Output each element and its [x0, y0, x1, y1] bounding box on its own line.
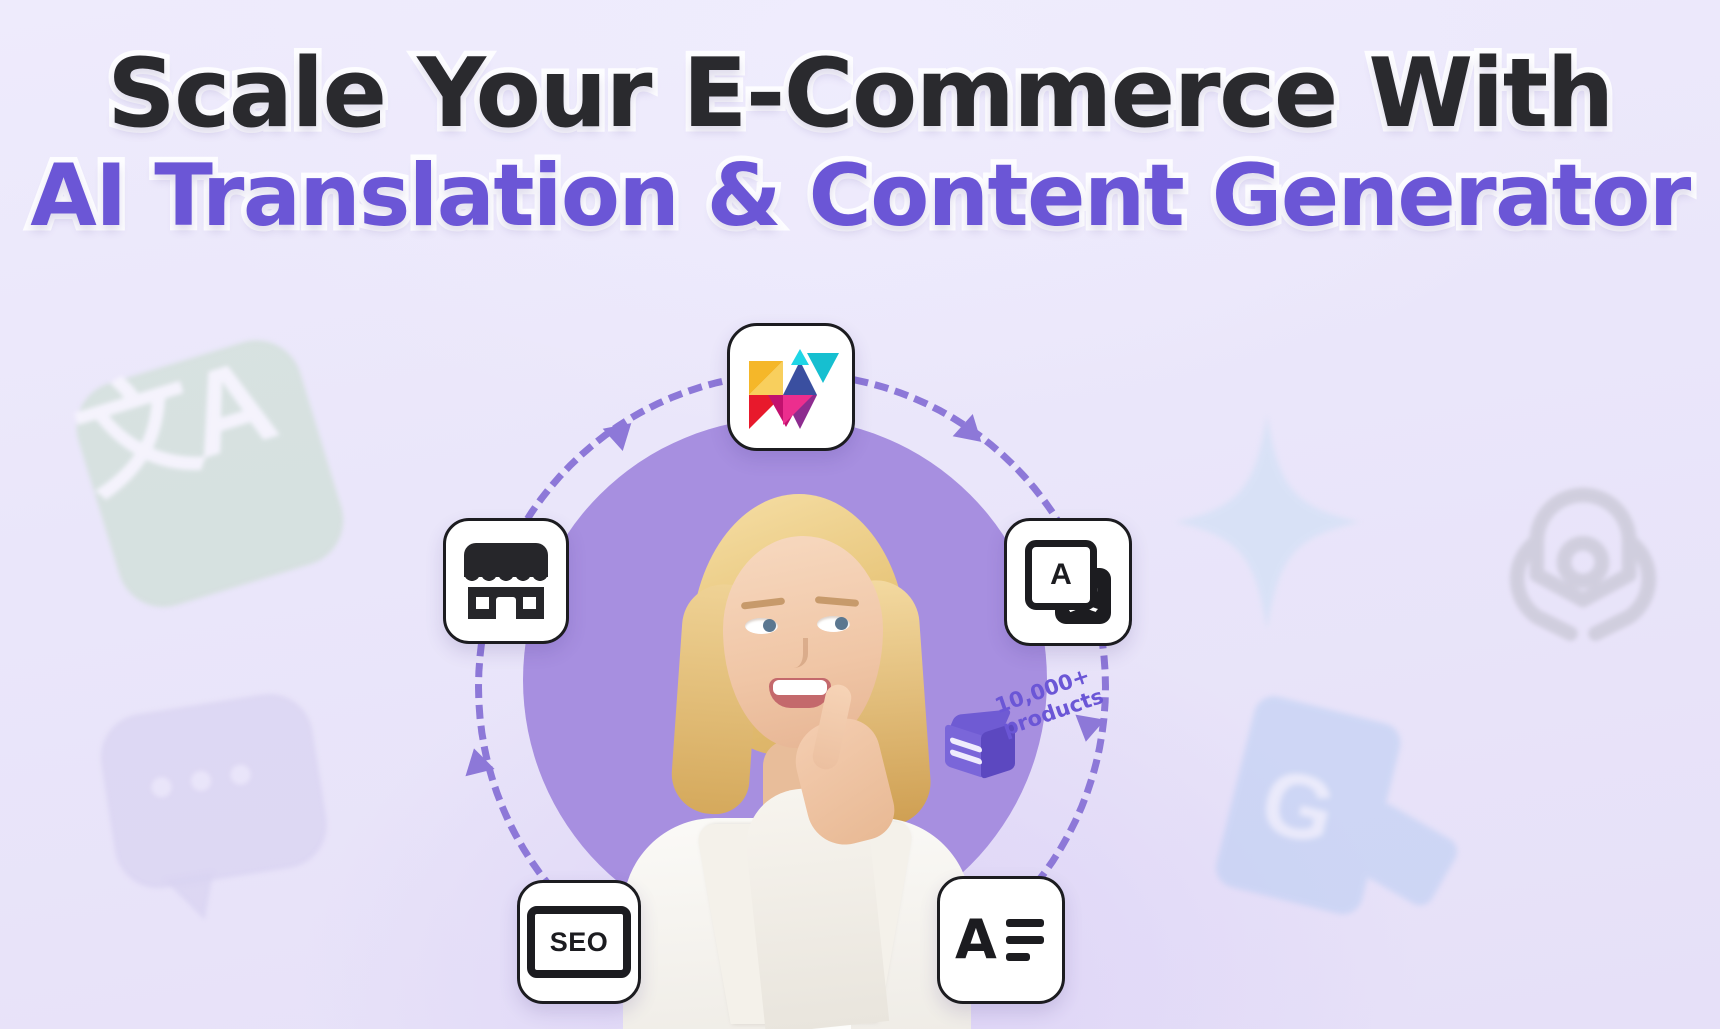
mouth	[769, 678, 831, 708]
page-title: Scale Your E-Commerce With AI Translatio…	[0, 46, 1720, 241]
pupil-right	[835, 617, 848, 630]
banner-stage: 文A G Scale Your E-Commerce With AI Tran	[0, 0, 1720, 1029]
watermark-card	[1212, 692, 1405, 918]
products-badge: 10,000+ products	[945, 670, 1175, 780]
woman-thinking-photo	[605, 488, 985, 1029]
content-generator-tile[interactable]: A	[937, 876, 1065, 1004]
watermark-glyph: 文A	[65, 318, 395, 637]
chat-bubble-watermark	[94, 682, 375, 938]
bubble-dots	[150, 763, 252, 798]
seo-icon: SEO	[527, 906, 631, 978]
nose	[781, 638, 808, 668]
vidnoz-logo-tile[interactable]	[727, 323, 855, 451]
storefront-tile[interactable]	[443, 518, 569, 644]
translate-tile[interactable]: A 文	[1004, 518, 1132, 646]
google-translate-watermark: 文A	[65, 318, 395, 637]
watermark-square	[65, 329, 355, 619]
storefront-icon	[464, 543, 548, 619]
watermark-wing	[1342, 798, 1462, 910]
products-badge-text: 10,000+ products	[992, 662, 1106, 741]
watermark-glyph-g: G	[1252, 754, 1344, 861]
translate-latin-letter: A	[1025, 540, 1097, 610]
seo-tile[interactable]: SEO	[517, 880, 641, 1004]
sparkle-watermark	[1175, 415, 1360, 630]
translate-icon: A 文	[1025, 540, 1111, 624]
headline-line-1: Scale Your E-Commerce With	[0, 46, 1720, 143]
vidnoz-v-logo-icon	[745, 347, 837, 427]
content-letter: A	[955, 913, 997, 967]
pupil-left	[763, 619, 776, 632]
google-g-watermark: G	[1203, 692, 1463, 968]
openai-watermark	[1478, 452, 1688, 664]
headline-line-2: AI Translation & Content Generator	[0, 153, 1720, 241]
bubble-tail	[164, 872, 221, 925]
bubble-shape	[94, 687, 333, 894]
content-lines	[1006, 919, 1044, 961]
text-lines-icon: A	[955, 909, 1047, 971]
